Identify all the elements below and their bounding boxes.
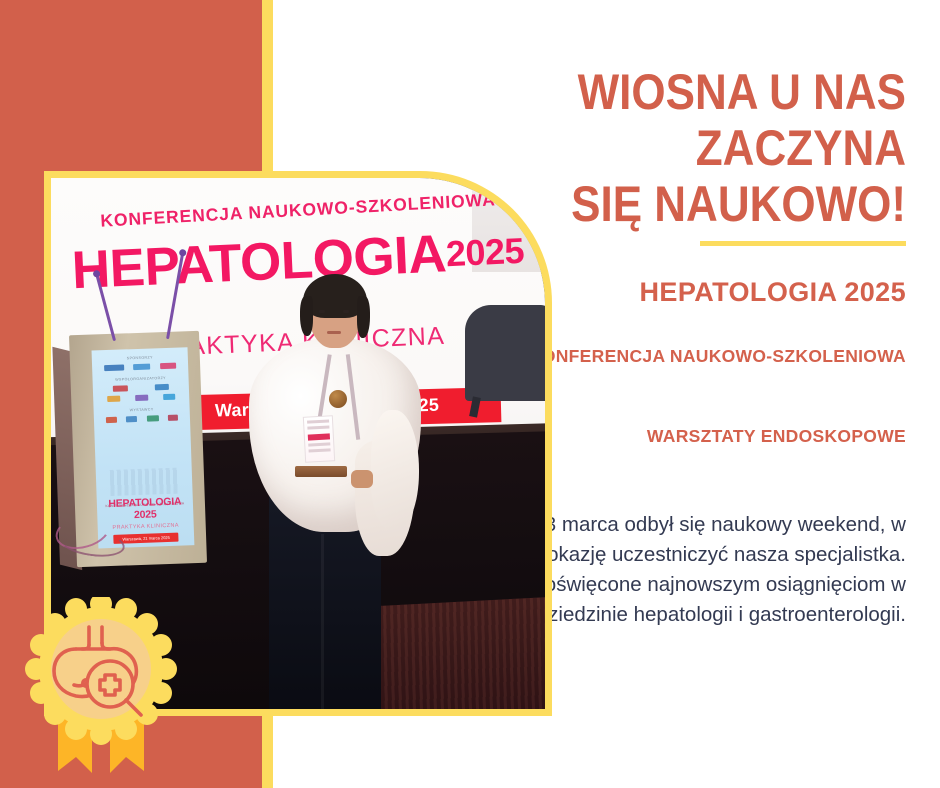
sponsor-logo [107, 396, 120, 402]
liver-magnifier-medal-icon [14, 597, 186, 777]
sponsor-logo [126, 416, 137, 422]
person-eye-right [343, 310, 349, 313]
person-belt [295, 466, 347, 477]
badge-line [307, 419, 329, 423]
lectern-screen-subtitle: PRAKTYKA KLINICZNA [98, 522, 194, 531]
sponsor-logo [135, 395, 148, 401]
partner-logo-row [94, 414, 190, 423]
sponsor-logo [147, 415, 159, 421]
badge-line [309, 448, 331, 452]
badge-line [307, 425, 329, 429]
person-pendant [329, 390, 347, 408]
person-mouth [327, 331, 341, 334]
cosponsor-logo-row [93, 383, 189, 392]
poster-canvas: KONFERENCJA NAUKOWO-SZKOLENIOWA HEPATOLO… [0, 0, 940, 788]
skyline-graphic [110, 468, 179, 496]
person-photo-subject [247, 290, 437, 709]
lectern-screen-title: HEPATOLOGIA 2025 [97, 495, 194, 522]
liver-medal-badge [14, 597, 186, 777]
sponsor-logo-row [92, 362, 188, 371]
person-hair-left [300, 296, 313, 336]
sponsor-logo [168, 415, 178, 421]
yellow-divider [700, 241, 906, 246]
sponsor-logo [104, 364, 124, 371]
headline-line-1: WIOSNA U NAS ZACZYNA [426, 64, 906, 176]
cosponsors-label: WSPÓŁORGANIZATORZY [93, 375, 189, 382]
person-eye-left [319, 310, 325, 313]
sponsor-logo [113, 385, 128, 392]
partners-label: WYSTAWCY [94, 406, 190, 413]
banner-title-year: 2025 [445, 230, 525, 275]
sponsors-label: SPONSORZY [92, 354, 188, 361]
sponsor-logo [160, 363, 176, 370]
badge-line [308, 442, 330, 446]
person-hair-right [357, 296, 370, 338]
sponsor-logo [106, 417, 117, 423]
conference-name-badge [303, 415, 335, 463]
sponsor-logo [155, 384, 169, 390]
person-right-sleeve [371, 410, 419, 530]
cosponsor-logo-row-2 [93, 393, 189, 402]
sponsor-logo [163, 394, 175, 400]
badge-line-accent [308, 433, 330, 440]
sponsor-logo [134, 364, 151, 371]
armchair [465, 305, 545, 401]
person-hand [351, 470, 373, 488]
